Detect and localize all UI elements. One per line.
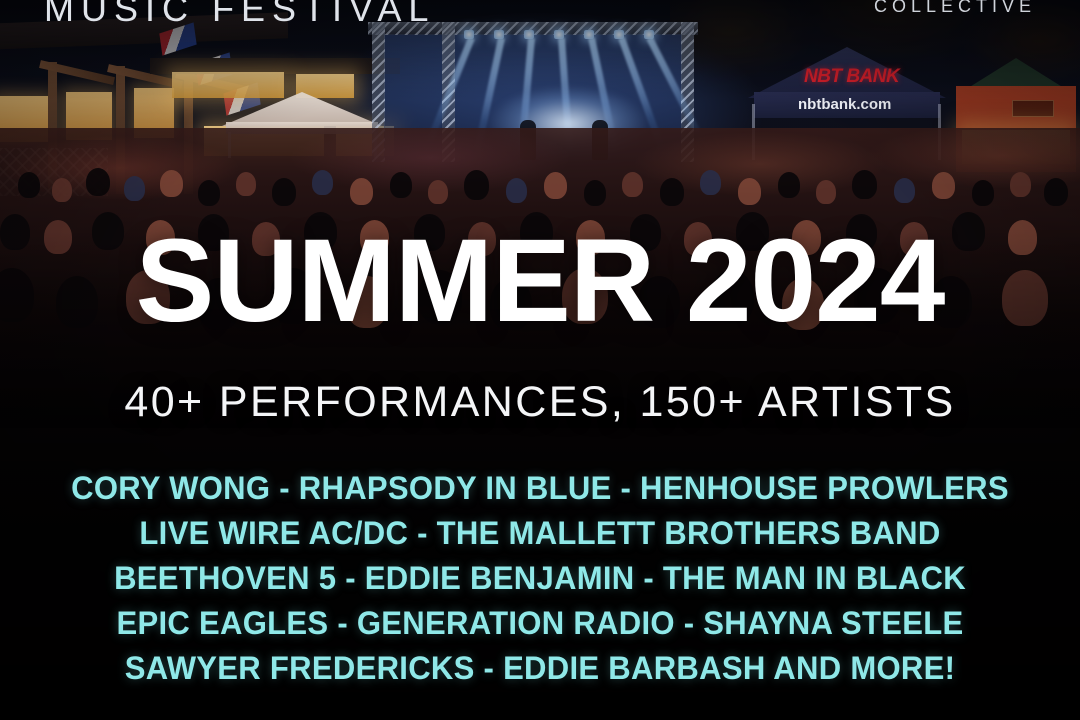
poster-text-layer: MUSIC FESTIVAL COLLECTIVE SUMMER 2024 40… xyxy=(0,0,1080,720)
lineup-line: EPIC EAGLES - GENERATION RADIO - SHAYNA … xyxy=(16,601,1064,646)
festival-poster: NBT BANK nbtbank.com xyxy=(0,0,1080,720)
festival-title: MUSIC FESTIVAL xyxy=(44,0,435,30)
header-row: MUSIC FESTIVAL COLLECTIVE xyxy=(0,0,1080,30)
lineup-line: SAWYER FREDERICKS - EDDIE BARBASH AND MO… xyxy=(16,646,1064,691)
page-title: SUMMER 2024 xyxy=(0,222,1080,340)
collective-title: COLLECTIVE xyxy=(874,0,1036,30)
subtitle-performances-artists: 40+ PERFORMANCES, 150+ ARTISTS xyxy=(0,378,1080,427)
lineup-line: BEETHOVEN 5 - EDDIE BENJAMIN - THE MAN I… xyxy=(16,556,1064,601)
artist-lineup: CORY WONG - RHAPSODY IN BLUE - HENHOUSE … xyxy=(0,466,1080,691)
lineup-line: CORY WONG - RHAPSODY IN BLUE - HENHOUSE … xyxy=(16,466,1064,511)
lineup-line: LIVE WIRE AC/DC - THE MALLETT BROTHERS B… xyxy=(16,511,1064,556)
